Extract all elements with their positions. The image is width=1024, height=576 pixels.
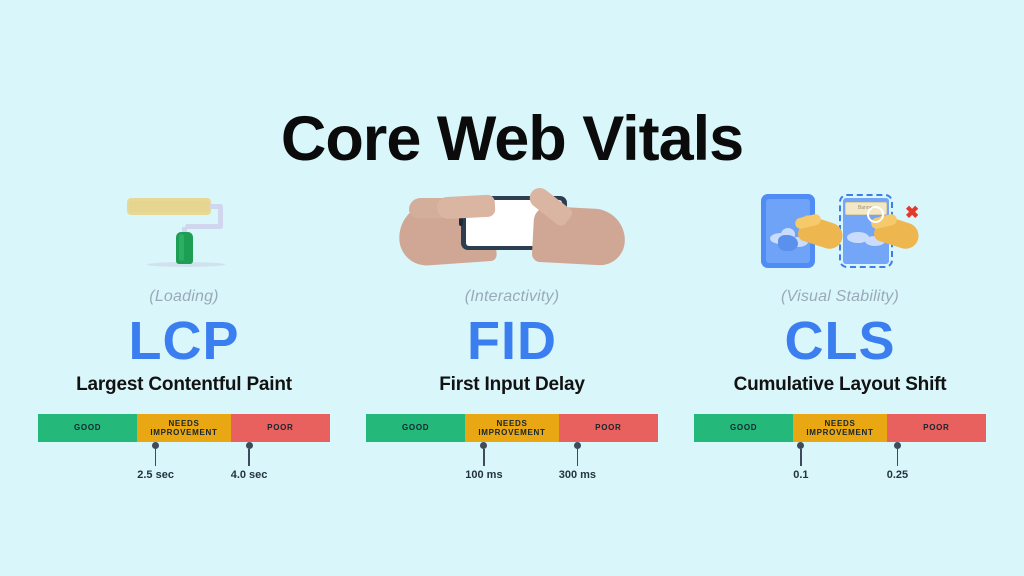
metric-acronym-fid: FID [467,314,557,368]
bar-track: GOOD NEEDS IMPROVEMENT POOR [38,414,330,442]
threshold-bar-fid: GOOD NEEDS IMPROVEMENT POOR 100 ms 300 m… [366,414,658,482]
shifting-banner-phones-icon: Banner ✖ [684,190,996,278]
pin-dot-icon [894,442,901,449]
threshold-marker-2: 300 ms [559,442,596,481]
pin-line [577,449,579,466]
threshold-label-1: 2.5 sec [137,469,174,481]
bar-segment-poor: POOR [887,414,986,442]
page-title: Core Web Vitals [0,108,1024,171]
threshold-pins: 100 ms 300 ms [366,442,658,482]
pin-line [800,449,802,466]
metric-category-cls: (Visual Stability) [781,288,899,306]
bar-segment-poor: POOR [231,414,330,442]
threshold-pins: 2.5 sec 4.0 sec [38,442,330,482]
threshold-bar-cls: GOOD NEEDS IMPROVEMENT POOR 0.1 0.25 [694,414,986,482]
threshold-label-2: 300 ms [559,469,596,481]
pin-dot-icon [152,442,159,449]
landmass-shape [778,235,798,251]
paint-roller-icon [28,190,340,278]
metric-fullname-fid: First Input Delay [439,374,584,396]
bar-track: GOOD NEEDS IMPROVEMENT POOR [694,414,986,442]
metric-category-lcp: (Loading) [149,288,218,306]
bar-segment-good: GOOD [366,414,465,442]
error-x-icon: ✖ [905,204,919,221]
threshold-label-1: 0.1 [793,469,808,481]
threshold-label-1: 100 ms [465,469,502,481]
pin-dot-icon [797,442,804,449]
metric-acronym-cls: CLS [785,314,896,368]
pin-line [155,449,157,466]
roller-frame-bottom [185,224,223,229]
infographic-slide: Core Web Vitals (Loading) LCP Larges [0,0,1024,576]
threshold-marker-1: 2.5 sec [137,442,174,481]
bar-segment-needs-improvement: NEEDS IMPROVEMENT [793,414,886,442]
metric-column-cls: Banner ✖ (Visual Stability) CLS Cumulati… [684,190,996,482]
metric-acronym-lcp: LCP [129,314,240,368]
bar-segment-needs-improvement: NEEDS IMPROVEMENT [465,414,558,442]
tap-ripple-icon [867,206,884,223]
metric-fullname-lcp: Largest Contentful Paint [76,374,292,396]
bar-track: GOOD NEEDS IMPROVEMENT POOR [366,414,658,442]
hand-tapping-phone-icon [356,190,668,278]
threshold-marker-1: 100 ms [465,442,502,481]
pin-line [248,449,250,466]
pin-dot-icon [480,442,487,449]
bar-segment-good: GOOD [694,414,793,442]
roller-handle-highlight [179,234,184,261]
pin-dot-icon [574,442,581,449]
metrics-columns: (Loading) LCP Largest Contentful Paint G… [0,190,1024,482]
roller-head-inner [129,201,209,212]
threshold-pins: 0.1 0.25 [694,442,986,482]
metric-column-lcp: (Loading) LCP Largest Contentful Paint G… [28,190,340,482]
left-hand-thumb [436,194,495,219]
threshold-marker-2: 0.25 [887,442,908,481]
metric-fullname-cls: Cumulative Layout Shift [734,374,947,396]
threshold-label-2: 0.25 [887,469,908,481]
pin-line [483,449,485,466]
threshold-marker-1: 0.1 [793,442,808,481]
metric-column-fid: (Interactivity) FID First Input Delay GO… [356,190,668,482]
metric-category-fid: (Interactivity) [465,288,560,306]
bar-segment-needs-improvement: NEEDS IMPROVEMENT [137,414,230,442]
threshold-bar-lcp: GOOD NEEDS IMPROVEMENT POOR 2.5 sec 4.0 … [38,414,330,482]
threshold-marker-2: 4.0 sec [231,442,268,481]
pin-line [897,449,899,466]
bar-segment-poor: POOR [559,414,658,442]
threshold-label-2: 4.0 sec [231,469,268,481]
pin-dot-icon [246,442,253,449]
bar-segment-good: GOOD [38,414,137,442]
